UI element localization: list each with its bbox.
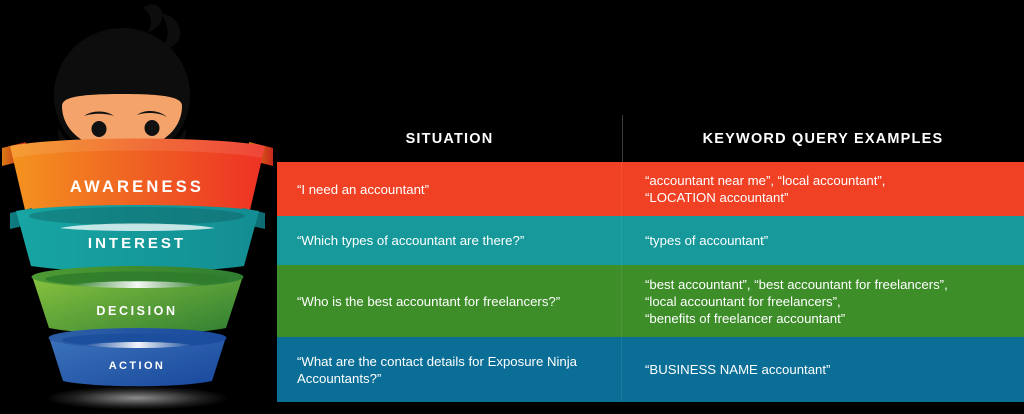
cell-keywords: “BUSINESS NAME accountant” (622, 337, 1024, 402)
table-row: “Who is the best accountant for freelanc… (277, 265, 1024, 337)
keyword-line: “types of accountant” (645, 232, 768, 249)
keyword-line: “BUSINESS NAME accountant” (645, 361, 830, 378)
column-header-keywords-label: KEYWORD QUERY EXAMPLES (703, 131, 944, 147)
funnel-ground-shadow (45, 386, 229, 410)
column-header-situation-label: SITUATION (406, 131, 494, 147)
keyword-query-table: SITUATION KEYWORD QUERY EXAMPLES “I need… (277, 115, 1024, 402)
keywords-text: “accountant near me”, “local accountant”… (645, 172, 885, 206)
funnel-label-action: ACTION (109, 360, 166, 372)
funnel-label-interest: INTEREST (88, 235, 186, 252)
situation-text: “I need an accountant” (297, 181, 429, 198)
keyword-line: “LOCATION accountant” (645, 189, 885, 206)
cell-situation: “What are the contact details for Exposu… (277, 337, 622, 402)
keyword-line: “benefits of freelancer accountant” (645, 310, 948, 327)
table-row: “I need an accountant” “accountant near … (277, 162, 1024, 216)
table-header-row: SITUATION KEYWORD QUERY EXAMPLES (277, 115, 1024, 162)
situation-text: “Who is the best accountant for freelanc… (297, 293, 560, 310)
funnel-label-decision: DECISION (96, 304, 177, 318)
ninja-eye-right (145, 120, 160, 136)
keyword-line: “best accountant”, “best accountant for … (645, 276, 948, 293)
keywords-text: “types of accountant” (645, 232, 768, 249)
header-column-divider (622, 115, 623, 162)
funnel-stage-action: ACTION (49, 328, 227, 386)
funnel-stage-interest: INTEREST (10, 205, 265, 272)
table-row: “What are the contact details for Exposu… (277, 337, 1024, 402)
cell-situation: “Which types of accountant are there?” (277, 216, 622, 265)
funnel-stage-decision: DECISION (32, 266, 244, 334)
cell-situation: “I need an accountant” (277, 162, 622, 216)
situation-text: “What are the contact details for Exposu… (297, 353, 614, 387)
marketing-funnel-graphic: AWARENESS INTEREST DECISION ACTION (0, 0, 275, 414)
keywords-text: “BUSINESS NAME accountant” (645, 361, 830, 378)
table-row: “Which types of accountant are there?” “… (277, 216, 1024, 265)
cell-keywords: “best accountant”, “best accountant for … (622, 265, 1024, 337)
cell-keywords: “accountant near me”, “local accountant”… (622, 162, 1024, 216)
ninja-eye-left (92, 121, 107, 137)
keyword-line: “accountant near me”, “local accountant”… (645, 172, 885, 189)
funnel-label-awareness: AWARENESS (70, 178, 204, 196)
situation-text: “Which types of accountant are there?” (297, 232, 524, 249)
keywords-text: “best accountant”, “best accountant for … (645, 276, 948, 327)
cell-keywords: “types of accountant” (622, 216, 1024, 265)
keyword-line: “local accountant for freelancers”, (645, 293, 948, 310)
column-header-situation: SITUATION (277, 115, 622, 162)
column-header-keywords: KEYWORD QUERY EXAMPLES (622, 115, 1024, 162)
cell-situation: “Who is the best accountant for freelanc… (277, 265, 622, 337)
